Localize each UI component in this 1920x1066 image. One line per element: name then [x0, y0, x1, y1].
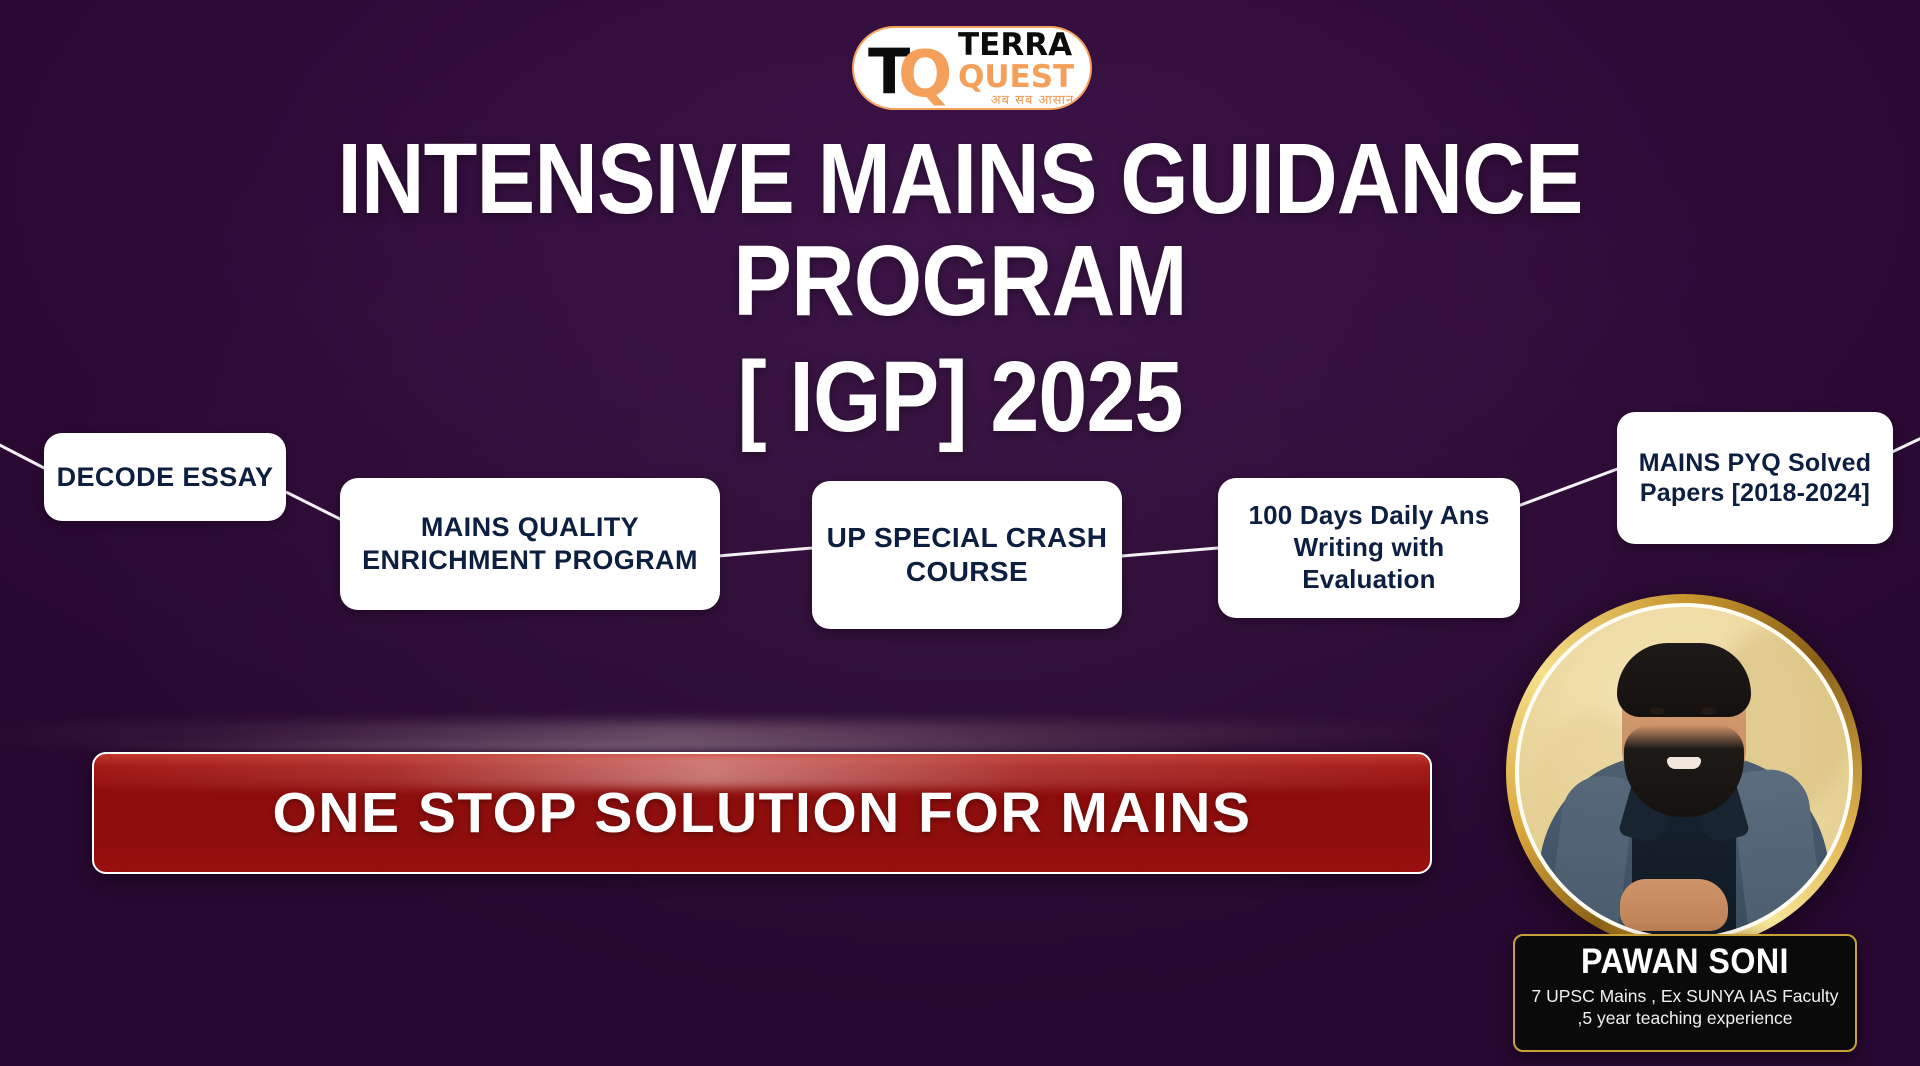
faculty-credentials-line-2: ,5 year teaching experience [1525, 1007, 1845, 1029]
tq-monogram-icon: T Q [864, 31, 956, 105]
feature-label: MAINS PYQ Solved Papers [2018-2024] [1627, 448, 1883, 509]
brand-tagline-hindi: अब सब आसान [958, 94, 1074, 107]
title-line-1: INTENSIVE MAINS GUIDANCE PROGRAM [115, 128, 1805, 332]
feature-label: MAINS QUALITY ENRICHMENT PROGRAM [350, 511, 710, 577]
brand-wordmark: TERRA QUEST अब सब आसान [958, 30, 1074, 107]
portrait-smile [1667, 757, 1701, 769]
brand-logo: T Q TERRA QUEST अब सब आसान [852, 26, 1092, 110]
faculty-credentials-line-1: 7 UPSC Mains , Ex SUNYA IAS Faculty [1525, 985, 1845, 1007]
feature-pill-decode-essay[interactable]: DECODE ESSAY [44, 433, 286, 521]
light-streak [0, 722, 1460, 748]
page-title: INTENSIVE MAINS GUIDANCE PROGRAM [ IGP] … [115, 128, 1805, 448]
feature-pill-up-special-crash-course[interactable]: UP SPECIAL CRASH COURSE [812, 481, 1122, 629]
portrait-eye-right [1701, 707, 1716, 715]
portrait-eye-left [1650, 707, 1665, 715]
light-streak-core [60, 742, 1240, 752]
feature-label: UP SPECIAL CRASH COURSE [822, 521, 1112, 589]
faculty-avatar [1506, 594, 1862, 950]
feature-pill-100-days-daily-ans-writing[interactable]: 100 Days Daily Ans Writing with Evaluati… [1218, 478, 1520, 618]
feature-label: 100 Days Daily Ans Writing with Evaluati… [1228, 500, 1510, 595]
feature-label: DECODE ESSAY [57, 461, 274, 494]
monogram-q: Q [898, 43, 952, 107]
brand-name-terra: TERRA [958, 30, 1074, 61]
title-line-2: [ IGP] 2025 [115, 346, 1805, 448]
faculty-portrait [1515, 603, 1853, 941]
faculty-nameplate: PAWAN SONI 7 UPSC Mains , Ex SUNYA IAS F… [1513, 934, 1857, 1052]
cta-label: ONE STOP SOLUTION FOR MAINS [273, 780, 1252, 846]
feature-pill-mains-pyq-solved-papers[interactable]: MAINS PYQ Solved Papers [2018-2024] [1617, 412, 1893, 544]
cta-banner[interactable]: ONE STOP SOLUTION FOR MAINS [92, 752, 1432, 874]
portrait-hair [1617, 643, 1751, 717]
faculty-name: PAWAN SONI [1538, 944, 1832, 981]
portrait-hands [1620, 879, 1728, 931]
banner-canvas: T Q TERRA QUEST अब सब आसान INTENSIVE MAI… [0, 0, 1920, 1066]
brand-name-quest: QUEST [958, 62, 1074, 93]
feature-pill-mains-quality-enrichment-program[interactable]: MAINS QUALITY ENRICHMENT PROGRAM [340, 478, 720, 610]
